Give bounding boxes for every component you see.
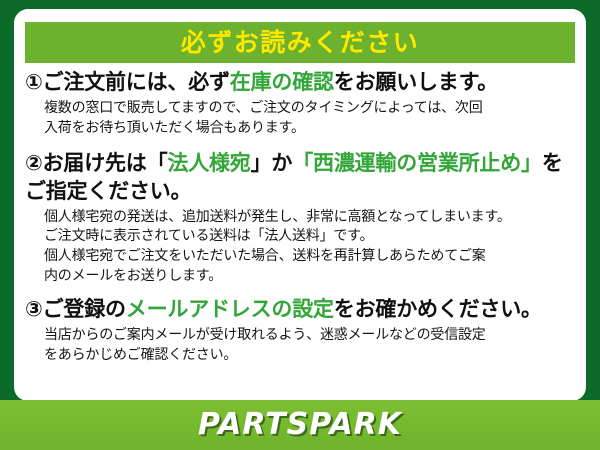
- list-item: ①ご注文前には、必ず在庫の確認をお願いします。 複数の窓口で販売してますので、ご…: [25, 69, 575, 139]
- item-heading-pre: ご注文前には、必ず: [43, 70, 230, 94]
- item-body-line: をあらかじめご確認ください。: [44, 346, 575, 366]
- item-body: 当店からのご案内メールが受け取れるよう、迷惑メールなどの受信設定 をあらかじめご…: [44, 326, 575, 366]
- item-marker: ③: [25, 297, 43, 321]
- item-heading-highlight: メールアドレスの設定: [126, 297, 334, 321]
- brand-logo: PARTSPARK: [198, 410, 402, 440]
- item-heading-pre: ご登録の: [43, 297, 126, 321]
- notice-header-bar: 必ずお読みください: [25, 22, 575, 63]
- item-body: 個人様宅宛の発送は、追加送料が発生し、非常に高額となってしまいます。 ご注文時に…: [44, 208, 575, 288]
- item-heading-highlight: 法人様宛: [167, 151, 250, 175]
- item-body-line: 当店からのご案内メールが受け取れるよう、迷惑メールなどの受信設定: [44, 326, 575, 346]
- notice-banner: 必ずお読みください ①ご注文前には、必ず在庫の確認をお願いします。 複数の窓口で…: [0, 0, 600, 450]
- item-heading: ①ご注文前には、必ず在庫の確認をお願いします。: [25, 69, 575, 97]
- item-heading: ③ご登録のメールアドレスの設定をお確かめください。: [25, 296, 575, 324]
- item-body-line: ご注文時に表示されている送料は「法人送料」です。: [44, 227, 575, 247]
- brand-footer: PARTSPARK: [0, 400, 600, 450]
- list-item: ②お届け先は「法人様宛」か「西濃運輸の営業所止め」をご指定ください。 個人様宅宛…: [25, 150, 575, 287]
- item-heading-mid: 」か: [251, 151, 293, 175]
- item-marker: ①: [25, 70, 43, 94]
- item-body-line: 複数の窓口で販売してますので、ご注文のタイミングによっては、次回: [44, 99, 575, 119]
- notice-card: 必ずお読みください ①ご注文前には、必ず在庫の確認をお願いします。 複数の窓口で…: [14, 9, 586, 401]
- item-heading-highlight: 在庫の確認: [230, 70, 334, 94]
- item-heading-post: をお願いします。: [334, 70, 498, 94]
- item-marker: ②: [25, 151, 43, 175]
- item-heading: ②お届け先は「法人様宛」か「西濃運輸の営業所止め」をご指定ください。: [25, 150, 575, 206]
- item-heading-highlight-2: 「西濃運輸の営業所止め」: [292, 151, 542, 175]
- list-item: ③ご登録のメールアドレスの設定をお確かめください。 当店からのご案内メールが受け…: [25, 296, 575, 366]
- item-body-line: 入荷をお待ち頂いただく場合もあります。: [44, 119, 575, 139]
- item-body-line: 個人様宅宛の発送は、追加送料が発生し、非常に高額となってしまいます。: [44, 208, 575, 228]
- notice-list: ①ご注文前には、必ず在庫の確認をお願いします。 複数の窓口で販売してますので、ご…: [14, 69, 586, 366]
- item-body: 複数の窓口で販売してますので、ご注文のタイミングによっては、次回 入荷をお待ち頂…: [44, 99, 575, 139]
- item-heading-post: をお確かめください。: [334, 297, 542, 321]
- item-body-line: 個人様宅宛でご注文をいただいた場合、送料を再計算しあらためてご案: [44, 247, 575, 267]
- item-body-line: 内のメールをお送りします。: [44, 267, 575, 287]
- item-heading-pre: お届け先は「: [43, 151, 168, 175]
- page-title: 必ずお読みください: [181, 30, 420, 55]
